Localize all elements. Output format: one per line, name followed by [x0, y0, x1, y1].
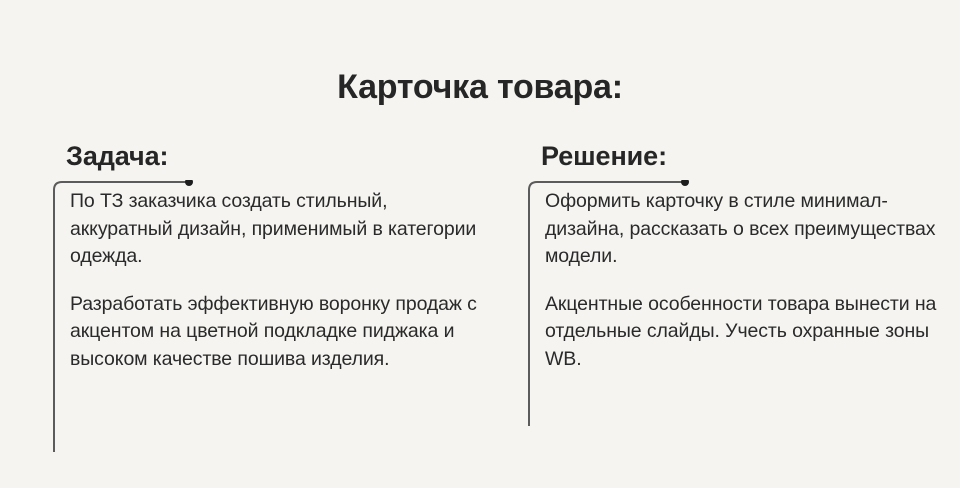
column-heading-task: Задача: — [66, 140, 492, 172]
paragraph: Оформить карточку в стиле минимал-дизайн… — [545, 188, 957, 271]
column-heading-solution: Решение: — [541, 140, 957, 172]
bracket-wrap-solution: Оформить карточку в стиле минимал-дизайн… — [527, 180, 957, 373]
paragraph: По ТЗ заказчика создать стильный, аккура… — [70, 188, 492, 271]
paragraph: Разработать эффективную воронку продаж с… — [70, 291, 492, 374]
body-text-task: По ТЗ заказчика создать стильный, аккура… — [70, 180, 492, 373]
page-title: Карточка товара: — [0, 68, 960, 107]
column-solution: Решение: Оформить карточку в стиле миним… — [527, 140, 957, 373]
bracket-wrap-task: По ТЗ заказчика создать стильный, аккура… — [52, 180, 492, 373]
body-text-solution: Оформить карточку в стиле минимал-дизайн… — [545, 180, 957, 373]
column-task: Задача: По ТЗ заказчика создать стильный… — [52, 140, 492, 373]
slide-canvas: Карточка товара: Задача: По ТЗ заказчика… — [0, 0, 960, 488]
paragraph: Акцентные особенности товара вынести на … — [545, 291, 957, 374]
